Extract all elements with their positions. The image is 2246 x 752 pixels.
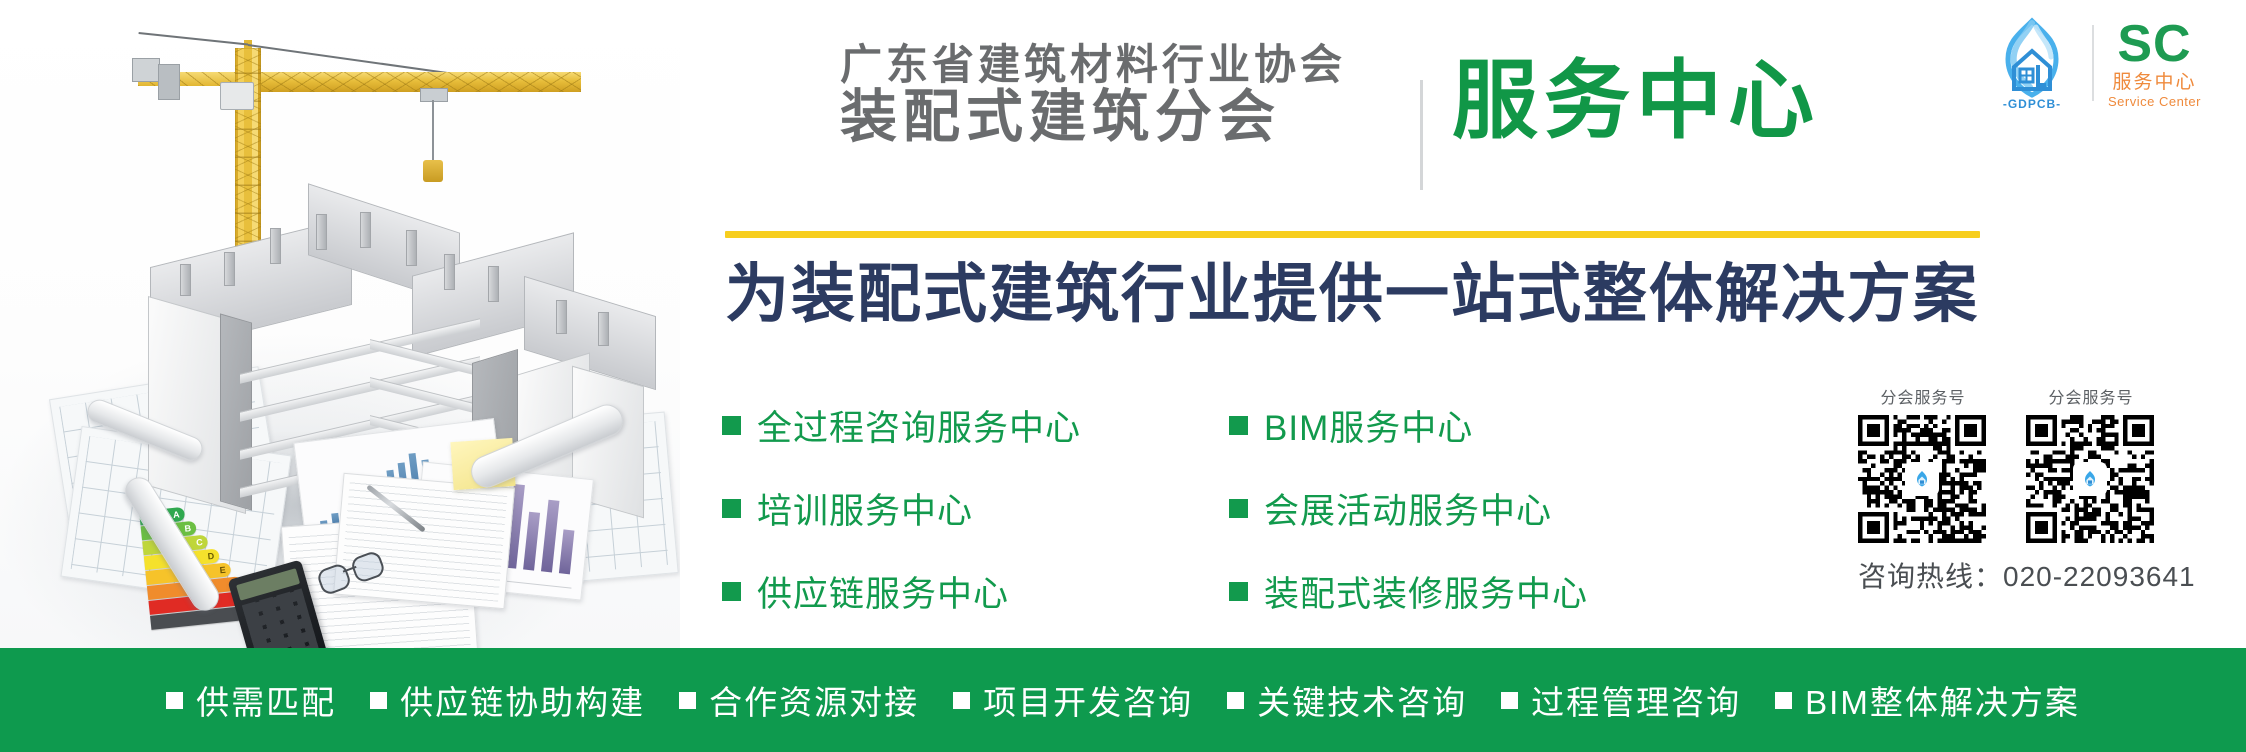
gdpcb-logo-mark: -GDPCB- bbox=[1986, 17, 2078, 109]
service-list-left: 全过程咨询服务中心 培训服务中心 供应链服务中心 bbox=[722, 400, 1081, 617]
roof-column bbox=[556, 300, 567, 334]
qr-cell-2: 分会服务号 bbox=[2026, 384, 2156, 543]
document-paper bbox=[333, 473, 515, 610]
bullet-square-icon bbox=[1229, 416, 1248, 435]
roof-column bbox=[316, 214, 327, 250]
crane-counterweight bbox=[132, 58, 160, 82]
bullet-square-icon bbox=[953, 692, 970, 709]
gold-divider-rule bbox=[725, 231, 1980, 238]
bar-item-process-management-consulting[interactable]: 过程管理咨询 bbox=[1501, 676, 1741, 724]
bar-item-partner-resources[interactable]: 合作资源对接 bbox=[679, 676, 919, 724]
crane-counterweight-block bbox=[158, 64, 180, 100]
logo-divider bbox=[2092, 25, 2094, 101]
association-title: 广东省建筑材料行业协会 装配式建筑分会 bbox=[840, 42, 1420, 148]
roof-column bbox=[488, 266, 499, 302]
roof-column bbox=[180, 264, 191, 296]
bar-item-label: 合作资源对接 bbox=[709, 676, 919, 724]
bar-item-supply-demand-matching[interactable]: 供需匹配 bbox=[166, 676, 336, 724]
service-item-training[interactable]: 培训服务中心 bbox=[722, 483, 1081, 534]
hero-illustration: A B C D E F G H bbox=[0, 0, 680, 648]
service-item-full-process-consulting[interactable]: 全过程咨询服务中心 bbox=[722, 400, 1081, 451]
sc-chinese-label: 服务中心 bbox=[2112, 73, 2196, 92]
crane-tie-front bbox=[248, 44, 451, 74]
crane-jib bbox=[251, 72, 581, 92]
qr-center-logo bbox=[1907, 464, 1937, 494]
bar-item-label: BIM整体解决方案 bbox=[1805, 676, 2080, 724]
qr-caption: 分会服务号 bbox=[2026, 384, 2156, 408]
bar-item-label: 供需匹配 bbox=[196, 676, 336, 724]
brand-logo: -GDPCB- SC 服务中心 Service Center bbox=[1986, 14, 2201, 112]
bullet-square-icon bbox=[679, 692, 696, 709]
service-item-bim[interactable]: BIM服务中心 bbox=[1229, 400, 1588, 451]
service-label: 供应链服务中心 bbox=[757, 566, 1009, 617]
bar-item-key-technology-consulting[interactable]: 关键技术咨询 bbox=[1227, 676, 1467, 724]
tagline: 为装配式建筑行业提供一站式整体解决方案 bbox=[725, 262, 1979, 326]
service-center-title: 服务中心 bbox=[1452, 58, 1820, 144]
bullet-square-icon bbox=[1501, 692, 1518, 709]
roof-column bbox=[270, 228, 281, 264]
qr-center-logo bbox=[2075, 464, 2105, 494]
roof-column bbox=[406, 230, 417, 266]
crane-operator-cab bbox=[220, 82, 254, 110]
gdpcb-wordmark: -GDPCB- bbox=[1986, 97, 2078, 111]
roof-column bbox=[444, 254, 455, 290]
bullet-square-icon bbox=[1229, 582, 1248, 601]
bar-item-supply-chain-building[interactable]: 供应链协助构建 bbox=[370, 676, 645, 724]
service-label: 全过程咨询服务中心 bbox=[757, 400, 1081, 451]
sc-english-label: Service Center bbox=[2108, 95, 2201, 108]
bar-item-label: 过程管理咨询 bbox=[1531, 676, 1741, 724]
bullet-square-icon bbox=[1227, 692, 1244, 709]
sc-initials: SC bbox=[2117, 18, 2191, 70]
bullet-square-icon bbox=[722, 416, 741, 435]
hotline-text: 咨询热线：020-22093641 bbox=[1858, 555, 2198, 595]
bottom-feature-bar: 供需匹配 供应链协助构建 合作资源对接 项目开发咨询 关键技术咨询 过程管理咨询… bbox=[0, 648, 2246, 752]
bar-item-label: 关键技术咨询 bbox=[1257, 676, 1467, 724]
bar-item-label: 供应链协助构建 bbox=[400, 676, 645, 724]
service-item-exhibition[interactable]: 会展活动服务中心 bbox=[1229, 483, 1588, 534]
bar-item-bim-total-solution[interactable]: BIM整体解决方案 bbox=[1775, 676, 2080, 724]
service-label: 会展活动服务中心 bbox=[1264, 483, 1552, 534]
service-item-prefab-decoration[interactable]: 装配式装修服务中心 bbox=[1229, 566, 1588, 617]
roof-column bbox=[360, 212, 371, 248]
qr-code-2[interactable] bbox=[2026, 415, 2154, 543]
roof-column bbox=[598, 312, 609, 346]
qr-caption: 分会服务号 bbox=[1858, 384, 1988, 408]
bullet-square-icon bbox=[1229, 499, 1248, 518]
sc-logo: SC 服务中心 Service Center bbox=[2108, 18, 2201, 108]
bullet-square-icon bbox=[370, 692, 387, 709]
banner-root: A B C D E F G H 广东省建筑材料行业协会 bbox=[0, 0, 2246, 752]
bullet-square-icon bbox=[1775, 692, 1792, 709]
bar-item-project-development-consulting[interactable]: 项目开发咨询 bbox=[953, 676, 1193, 724]
service-label: BIM服务中心 bbox=[1264, 400, 1473, 451]
service-label: 装配式装修服务中心 bbox=[1264, 566, 1588, 617]
association-name: 广东省建筑材料行业协会 bbox=[840, 42, 1420, 87]
qr-code-1[interactable] bbox=[1858, 415, 1986, 543]
bullet-square-icon bbox=[166, 692, 183, 709]
crane-tie-rear bbox=[139, 33, 249, 46]
service-item-supply-chain[interactable]: 供应链服务中心 bbox=[722, 566, 1081, 617]
qr-contact-block: 分会服务号 分会服务号 bbox=[1858, 384, 2198, 595]
bullet-square-icon bbox=[722, 582, 741, 601]
crane-trolley bbox=[420, 88, 448, 102]
crane-cable bbox=[432, 100, 434, 162]
calculator-keypad bbox=[242, 588, 320, 648]
qr-row: 分会服务号 分会服务号 bbox=[1858, 384, 2198, 543]
bar-item-label: 项目开发咨询 bbox=[983, 676, 1193, 724]
service-list-right: BIM服务中心 会展活动服务中心 装配式装修服务中心 bbox=[1229, 400, 1588, 617]
title-divider bbox=[1420, 80, 1423, 190]
roof-column bbox=[224, 252, 235, 286]
qr-cell-1: 分会服务号 bbox=[1858, 384, 1988, 543]
association-branch: 装配式建筑分会 bbox=[840, 87, 1420, 147]
bullet-square-icon bbox=[722, 499, 741, 518]
service-label: 培训服务中心 bbox=[757, 483, 973, 534]
service-center-lists: 全过程咨询服务中心 培训服务中心 供应链服务中心 BIM服务中心 会展活动服务中… bbox=[722, 400, 1842, 617]
